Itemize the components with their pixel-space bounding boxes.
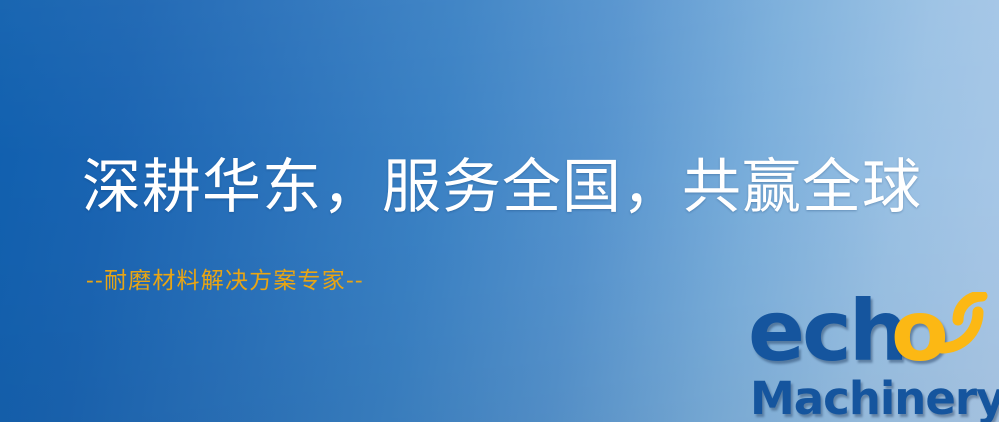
logo-tagline: Machinery® bbox=[750, 369, 999, 422]
logo-tagline-text: Machinery bbox=[750, 372, 999, 422]
banner-subtitle: --耐磨材料解决方案专家-- bbox=[86, 266, 364, 296]
banner-headline: 深耕华东，服务全国，共赢全球 bbox=[82, 152, 922, 222]
company-logo: ech o Machinery® bbox=[748, 297, 999, 422]
hero-banner: 深耕华东，服务全国，共赢全球 --耐磨材料解决方案专家-- ech o Mach… bbox=[0, 0, 999, 422]
logo-wordmark-row: ech o bbox=[748, 297, 999, 371]
logo-wordmark-text: ech bbox=[748, 289, 906, 373]
signal-waves-icon bbox=[934, 292, 999, 362]
